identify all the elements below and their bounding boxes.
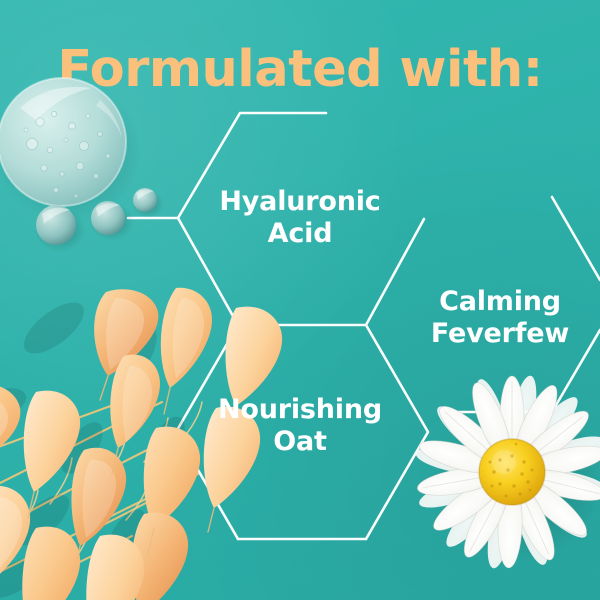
- formulated-with-poster: Formulated with:: [0, 0, 600, 600]
- ingredient-label-line1: Calming: [439, 286, 561, 317]
- ingredient-label-line2: Feverfew: [390, 318, 600, 350]
- ingredient-label-line2: Acid: [190, 218, 410, 250]
- ingredient-label-line2: Oat: [190, 426, 410, 458]
- ingredient-label-hyaluronic-acid: Hyaluronic Acid: [190, 186, 410, 251]
- ingredient-label-line1: Nourishing: [218, 394, 382, 425]
- ingredient-label-nourishing-oat: Nourishing Oat: [190, 394, 410, 459]
- daisy-flower-icon: [424, 378, 600, 564]
- ingredient-label-calming-feverfew: Calming Feverfew: [390, 286, 600, 351]
- gel-droplet-icon: [0, 72, 176, 262]
- ingredient-label-line1: Hyaluronic: [219, 186, 380, 217]
- hex-edge-top-right-hex: [552, 197, 600, 280]
